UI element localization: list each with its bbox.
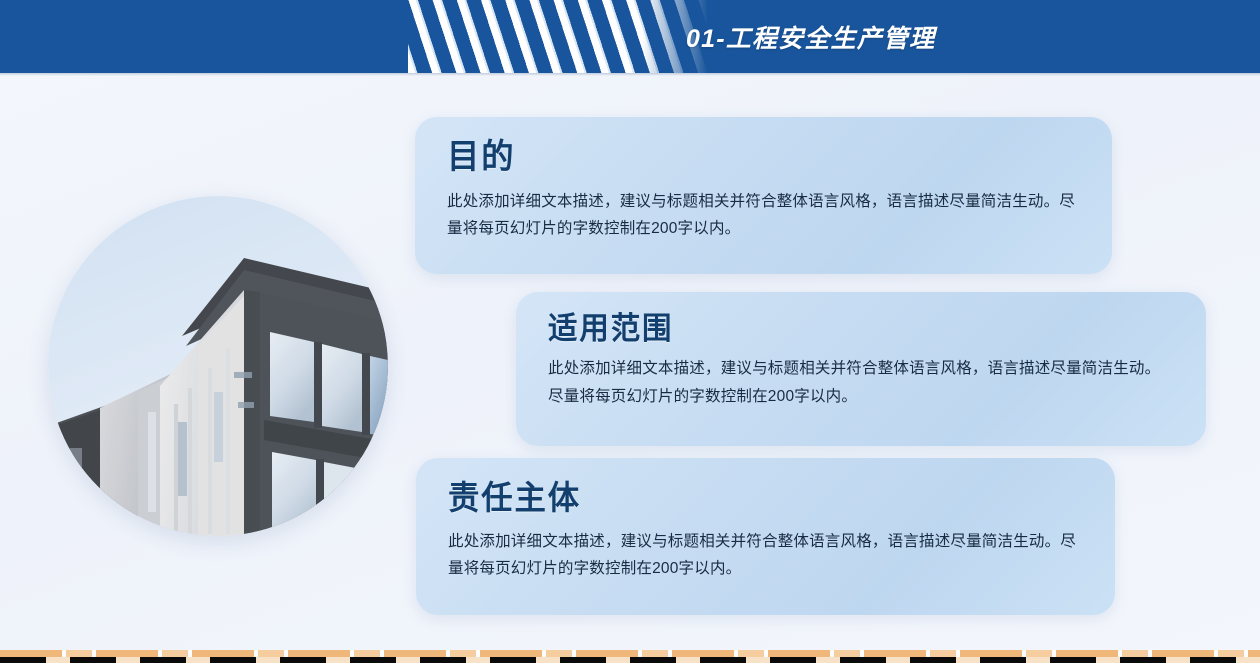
bottom-dashed-strip [0,650,1260,657]
diagonal-stripes-decoration [408,0,708,73]
slide-header: 01-工程安全生产管理 [0,0,1260,73]
card-title: 适用范围 [548,312,1143,345]
header-shadow-divider [0,73,1260,76]
card-body: 此处添加详细文本描述，建议与标题相关并符合整体语言风格，语言描述尽量简洁生动。尽… [447,188,1078,243]
card-title: 责任主体 [448,480,1049,516]
card-body: 此处添加详细文本描述，建议与标题相关并符合整体语言风格，语言描述尽量简洁生动。尽… [448,528,1078,583]
info-card-purpose[interactable]: 目的 此处添加详细文本描述，建议与标题相关并符合整体语言风格，语言描述尽量简洁生… [415,117,1112,274]
card-body: 此处添加详细文本描述，建议与标题相关并符合整体语言风格，语言描述尽量简洁生动。尽… [548,355,1174,410]
bottom-edge-strip [0,657,1260,663]
info-card-scope[interactable]: 适用范围 此处添加详细文本描述，建议与标题相关并符合整体语言风格，语言描述尽量简… [516,292,1206,446]
page-title: 01-工程安全生产管理 [686,0,935,73]
card-title: 目的 [447,139,1046,176]
slide-canvas: 01-工程安全生产管理 [0,0,1260,663]
building-photo [48,196,388,536]
info-card-responsible-entity[interactable]: 责任主体 此处添加详细文本描述，建议与标题相关并符合整体语言风格，语言描述尽量简… [416,458,1115,615]
